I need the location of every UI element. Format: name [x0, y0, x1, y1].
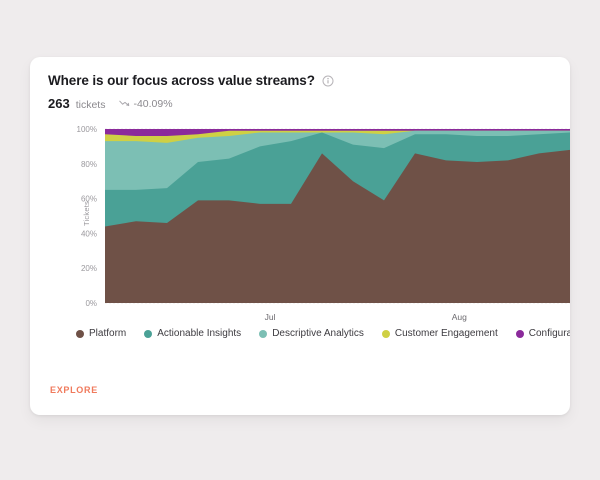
card-header: Where is our focus across value streams?…	[30, 57, 570, 111]
chart-area: 0%20%40%60%80%100%JulAug Tickets	[30, 121, 570, 326]
legend-label: Descriptive Analytics	[272, 328, 364, 339]
metric-value: 263	[48, 96, 70, 111]
x-axis-tick-label: Aug	[452, 312, 467, 322]
legend-swatch-icon	[516, 330, 524, 338]
y-axis-tick-label: 80%	[81, 160, 97, 169]
legend-swatch-icon	[76, 330, 84, 338]
legend-swatch-icon	[382, 330, 390, 338]
legend-label: Actionable Insights	[157, 328, 241, 339]
legend-swatch-icon	[259, 330, 267, 338]
chart-card: Where is our focus across value streams?…	[30, 57, 570, 415]
chart-legend: PlatformActionable InsightsDescriptive A…	[30, 328, 570, 339]
y-axis-tick-label: 20%	[81, 264, 97, 273]
y-axis-tick-label: 0%	[85, 299, 97, 308]
metric-unit: tickets	[76, 99, 106, 111]
x-axis-tick-label: Jul	[265, 312, 276, 322]
info-circle-icon[interactable]	[322, 75, 334, 87]
title-row: Where is our focus across value streams?	[48, 73, 552, 89]
trend-down-icon	[119, 99, 130, 108]
legend-label: Platform	[89, 328, 126, 339]
legend-item[interactable]: Descriptive Analytics	[259, 328, 364, 339]
y-axis-tick-label: 40%	[81, 229, 97, 238]
stacked-area-chart[interactable]: 0%20%40%60%80%100%JulAug	[30, 121, 570, 326]
legend-label: Customer Engagement	[395, 328, 498, 339]
legend-label: Configuration Mana	[529, 328, 570, 339]
metric-row: 263 tickets -40.09%	[48, 96, 552, 111]
page-title: Where is our focus across value streams?	[48, 73, 315, 89]
explore-link[interactable]: EXPLORE	[42, 381, 106, 399]
legend-item[interactable]: Configuration Mana	[516, 328, 570, 339]
legend-swatch-icon	[144, 330, 152, 338]
legend-item[interactable]: Customer Engagement	[382, 328, 498, 339]
card-footer: EXPLORE	[30, 380, 570, 415]
legend-item[interactable]: Platform	[76, 328, 126, 339]
legend-item[interactable]: Actionable Insights	[144, 328, 241, 339]
y-axis-title: Tickets	[82, 201, 91, 226]
trend-indicator: -40.09%	[119, 98, 172, 110]
y-axis-tick-label: 100%	[77, 125, 97, 134]
trend-value: -40.09%	[133, 98, 172, 110]
